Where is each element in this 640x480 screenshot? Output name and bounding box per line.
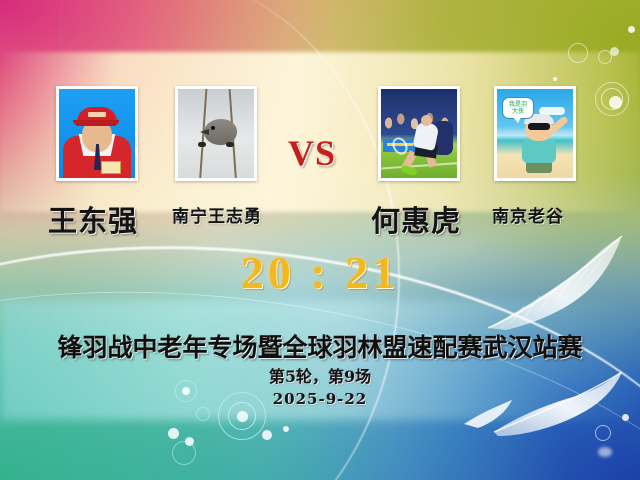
left-player1-name: 王东强 (48, 198, 138, 240)
right-player2-name: 南京老谷 (492, 202, 564, 227)
bird-on-wires-icon (178, 89, 254, 178)
bokeh-ring-br-1 (595, 425, 611, 441)
cartoon-beach-character-icon: 我是羽大侠 (497, 89, 573, 178)
score-display: 20 : 21 (0, 246, 640, 299)
bokeh-dot-bc-6 (283, 426, 289, 432)
match-poster: 我是羽大侠 VS 王东强 南宁王志勇 何惠虎 南京老谷 20 : 21 锋羽战中… (0, 0, 640, 480)
bokeh-dot-bc-4 (168, 428, 179, 439)
bokeh-dot-bc-1 (237, 411, 248, 422)
match-date: 2025-9-22 (0, 390, 640, 408)
bokeh-ring-tr-1 (568, 43, 588, 63)
bokeh-ring-tr-2 (598, 50, 612, 64)
portrait-man-red-jacket-icon (59, 89, 135, 178)
bokeh-dot-tr-2 (610, 47, 619, 56)
bokeh-dot-tr-1 (628, 26, 635, 33)
bokeh-ring-bc-4 (172, 441, 196, 465)
vs-label: VS (288, 132, 336, 174)
photo-frame-right-2[interactable]: 我是羽大侠 (494, 86, 576, 181)
badminton-action-icon (381, 89, 457, 178)
right-player1-name: 何惠虎 (371, 198, 461, 240)
event-title: 锋羽战中老年专场暨全球羽林盟速配赛武汉站赛 (0, 328, 640, 364)
bokeh-dot-bc-3 (185, 437, 194, 446)
photo-frame-right-1[interactable] (378, 86, 460, 181)
left-player2-name: 南宁王志勇 (172, 202, 262, 227)
bokeh-dot-br-1 (622, 414, 629, 421)
round-label: 第5轮，第9场 (0, 363, 640, 387)
bokeh-dot-br-2 (598, 447, 612, 457)
light-arc-5 (0, 0, 411, 480)
bokeh-dot-bc-5 (262, 430, 272, 440)
bokeh-dot-tr-3 (553, 77, 557, 81)
photo-frame-left-2[interactable] (175, 86, 257, 181)
photo-frame-left-1[interactable] (56, 86, 138, 181)
bokeh-ring-bc-5 (196, 407, 210, 421)
